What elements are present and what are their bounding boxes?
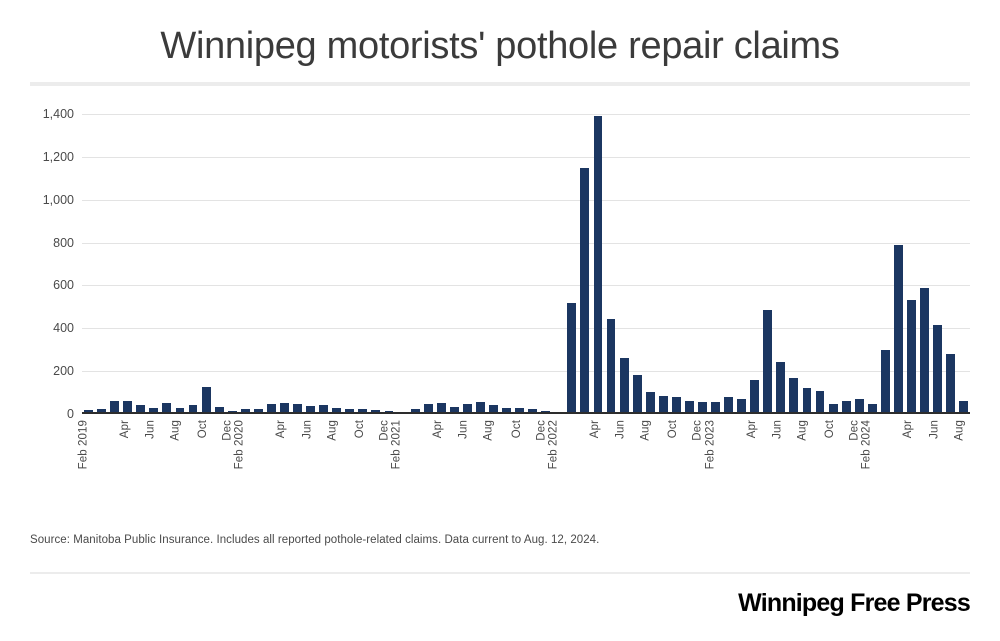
bar-slot[interactable]: [108, 114, 121, 414]
x-axis-slot: Jun: [931, 416, 944, 486]
y-axis-tick-label: 1,000: [43, 193, 74, 207]
bar[interactable]: [894, 245, 903, 414]
x-axis-slot: Jun: [304, 416, 317, 486]
x-axis-slot: Jun: [774, 416, 787, 486]
bar-slot[interactable]: [330, 114, 343, 414]
bar-slot[interactable]: [435, 114, 448, 414]
bar[interactable]: [907, 300, 916, 414]
bar-slot[interactable]: [213, 114, 226, 414]
x-axis-slot: Feb 2020: [252, 416, 265, 486]
bar-slot[interactable]: [252, 114, 265, 414]
y-axis-tick-label: 800: [53, 236, 74, 250]
x-axis-tick-label: Feb 2023: [704, 420, 716, 469]
bar[interactable]: [776, 362, 785, 415]
bar-slot[interactable]: [565, 114, 578, 414]
bar[interactable]: [567, 303, 576, 414]
x-axis-slot: Aug: [173, 416, 186, 486]
bar[interactable]: [646, 392, 655, 415]
bar-slot[interactable]: [957, 114, 970, 414]
x-axis-slot: Jun: [461, 416, 474, 486]
bar-slot[interactable]: [866, 114, 879, 414]
x-axis-slot: Feb 2023: [722, 416, 735, 486]
x-axis-slot: Oct: [356, 416, 369, 486]
y-axis-tick-label: 1,200: [43, 150, 74, 164]
bar[interactable]: [750, 380, 759, 414]
bar[interactable]: [633, 375, 642, 414]
bar-slot[interactable]: [513, 114, 526, 414]
bar-slot[interactable]: [774, 114, 787, 414]
x-axis-tick-label: Apr: [432, 420, 444, 438]
bar[interactable]: [763, 310, 772, 414]
gridlines-container: [82, 114, 970, 414]
x-axis-slot: Aug: [487, 416, 500, 486]
infographic-page: Winnipeg motorists' pothole repair claim…: [0, 0, 1000, 641]
bar-slot[interactable]: [173, 114, 186, 414]
bar-slot[interactable]: [291, 114, 304, 414]
x-axis-tick-label: Oct: [197, 420, 209, 438]
bar-slot[interactable]: [147, 114, 160, 414]
x-axis-slot: Aug: [330, 416, 343, 486]
bar-slot[interactable]: [814, 114, 827, 414]
x-axis-tick-label: Feb 2020: [234, 420, 246, 469]
bar-slot[interactable]: [487, 114, 500, 414]
source-note: Source: Manitoba Public Insurance. Inclu…: [30, 534, 599, 546]
bar-slot[interactable]: [892, 114, 905, 414]
title-divider: [30, 82, 970, 86]
x-axis-tick-label: Jun: [771, 420, 783, 439]
bar-slot[interactable]: [382, 114, 395, 414]
bar-slot[interactable]: [800, 114, 813, 414]
bar[interactable]: [946, 354, 955, 414]
bar-slot[interactable]: [761, 114, 774, 414]
bar-slot[interactable]: [82, 114, 95, 414]
bar-slot[interactable]: [539, 114, 552, 414]
bar-slot[interactable]: [722, 114, 735, 414]
bar-slot[interactable]: [840, 114, 853, 414]
bar-slot[interactable]: [879, 114, 892, 414]
bar-slot[interactable]: [95, 114, 108, 414]
bar[interactable]: [580, 168, 589, 414]
chart-plot-area: 02004006008001,0001,2001,400 Feb 2019Apr…: [30, 114, 970, 434]
y-axis-tick-label: 400: [53, 321, 74, 335]
x-axis-slot: Aug: [800, 416, 813, 486]
bar-slot[interactable]: [709, 114, 722, 414]
bar[interactable]: [620, 358, 629, 414]
y-axis-tick-label: 1,400: [43, 107, 74, 121]
x-axis-slot: Jun: [618, 416, 631, 486]
bar-slot[interactable]: [226, 114, 239, 414]
bar[interactable]: [933, 325, 942, 414]
bar[interactable]: [881, 350, 890, 414]
bar-slot[interactable]: [696, 114, 709, 414]
x-axis-tick-label: Aug: [953, 420, 965, 441]
bar-slot[interactable]: [500, 114, 513, 414]
x-axis-tick-label: Apr: [902, 420, 914, 438]
bar-slot[interactable]: [461, 114, 474, 414]
title-block: Winnipeg motorists' pothole repair claim…: [30, 0, 970, 86]
bar-slot[interactable]: [396, 114, 409, 414]
x-axis-tick-label: Aug: [483, 420, 495, 441]
x-axis-slot: Apr: [748, 416, 761, 486]
x-axis-slot: Feb 2021: [409, 416, 422, 486]
x-axis-tick-label: Aug: [797, 420, 809, 441]
x-axis-slot: Apr: [591, 416, 604, 486]
x-axis-tick-label: Jun: [301, 420, 313, 439]
bar-slot[interactable]: [944, 114, 957, 414]
publisher-logo: Winnipeg Free Press: [738, 589, 970, 618]
x-axis-line: [82, 412, 970, 414]
bar[interactable]: [202, 387, 211, 414]
x-axis-tick-label: Feb 2019: [77, 420, 89, 469]
bar-slot[interactable]: [304, 114, 317, 414]
bar-slot[interactable]: [121, 114, 134, 414]
x-axis-slot: Feb 2019: [95, 416, 108, 486]
bar-slot[interactable]: [369, 114, 382, 414]
bar-slot[interactable]: [409, 114, 422, 414]
bar-slot[interactable]: [265, 114, 278, 414]
bar[interactable]: [816, 391, 825, 414]
x-axis-slot: Oct: [513, 416, 526, 486]
x-axis-slot: Apr: [435, 416, 448, 486]
bar[interactable]: [607, 319, 616, 414]
bar-slot[interactable]: [618, 114, 631, 414]
x-axis-slot: Oct: [670, 416, 683, 486]
bar[interactable]: [594, 116, 603, 414]
x-axis-tick-label: Apr: [589, 420, 601, 438]
x-axis-slot: Apr: [905, 416, 918, 486]
x-axis-tick-label: Feb 2022: [547, 420, 559, 469]
x-axis-tick-label: Oct: [667, 420, 679, 438]
footer-divider: [30, 572, 970, 574]
x-axis-tick-label: Oct: [510, 420, 522, 438]
x-axis-tick-label: Feb 2024: [861, 420, 873, 469]
bar-slot[interactable]: [278, 114, 291, 414]
y-axis-tick-label: 600: [53, 278, 74, 292]
x-axis-tick-label: Feb 2021: [390, 420, 402, 469]
x-axis-tick-label: Aug: [326, 420, 338, 441]
bar-slot[interactable]: [853, 114, 866, 414]
bar-slot[interactable]: [200, 114, 213, 414]
x-axis-tick-label: Apr: [119, 420, 131, 438]
bar-slot[interactable]: [591, 114, 604, 414]
y-axis-tick-label: 200: [53, 364, 74, 378]
bar-slot[interactable]: [317, 114, 330, 414]
x-axis-tick-label: Apr: [275, 420, 287, 438]
bar-slot[interactable]: [735, 114, 748, 414]
bar-slot[interactable]: [905, 114, 918, 414]
bar-slot[interactable]: [239, 114, 252, 414]
x-axis-tick-label: Dec: [222, 420, 234, 441]
bar-slot[interactable]: [343, 114, 356, 414]
bar-slot[interactable]: [356, 114, 369, 414]
bar-slot[interactable]: [657, 114, 670, 414]
x-axis-slot: Aug: [957, 416, 970, 486]
bar-slot[interactable]: [605, 114, 618, 414]
bar-slot[interactable]: [748, 114, 761, 414]
x-axis-tick-label: Jun: [615, 420, 627, 439]
x-axis-tick-label: Jun: [928, 420, 940, 439]
x-axis-slot: Aug: [644, 416, 657, 486]
x-axis-tick-label: Dec: [849, 420, 861, 441]
x-axis-slot: Oct: [827, 416, 840, 486]
bar[interactable]: [789, 378, 798, 414]
x-axis-slot: Apr: [121, 416, 134, 486]
bar-slot[interactable]: [670, 114, 683, 414]
x-axis-tick-label: Aug: [170, 420, 182, 441]
bar[interactable]: [920, 288, 929, 414]
bar-slot[interactable]: [931, 114, 944, 414]
x-axis-tick-label: Dec: [379, 420, 391, 441]
bar-slot[interactable]: [787, 114, 800, 414]
bar-slot[interactable]: [474, 114, 487, 414]
bar-slot[interactable]: [918, 114, 931, 414]
bar-slot[interactable]: [448, 114, 461, 414]
page-title: Winnipeg motorists' pothole repair claim…: [30, 22, 970, 70]
y-axis: 02004006008001,0001,2001,400: [30, 114, 82, 414]
bar-slot[interactable]: [526, 114, 539, 414]
x-axis-tick-label: Aug: [640, 420, 652, 441]
bar-series: [82, 114, 970, 414]
x-axis-tick-label: Oct: [354, 420, 366, 438]
bar-slot[interactable]: [683, 114, 696, 414]
bar-slot[interactable]: [134, 114, 147, 414]
x-axis-tick-label: Jun: [458, 420, 470, 439]
bar-slot[interactable]: [160, 114, 173, 414]
bar-slot[interactable]: [578, 114, 591, 414]
x-axis-slot: Apr: [278, 416, 291, 486]
x-axis-tick-label: Jun: [144, 420, 156, 439]
x-axis-tick-label: Dec: [535, 420, 547, 441]
bar-slot[interactable]: [422, 114, 435, 414]
x-axis-slot: Feb 2022: [565, 416, 578, 486]
bar-slot[interactable]: [644, 114, 657, 414]
x-axis-tick-label: Dec: [692, 420, 704, 441]
x-axis-slot: Jun: [147, 416, 160, 486]
bar-slot[interactable]: [187, 114, 200, 414]
x-axis-slot: Feb 2024: [879, 416, 892, 486]
y-axis-tick-label: 0: [67, 407, 74, 421]
x-axis-tick-label: Oct: [824, 420, 836, 438]
x-axis: Feb 2019AprJunAugOctDecFeb 2020AprJunAug…: [82, 416, 970, 486]
bar-slot[interactable]: [827, 114, 840, 414]
bar[interactable]: [803, 388, 812, 414]
x-axis-slot: Oct: [200, 416, 213, 486]
bar-slot[interactable]: [552, 114, 565, 414]
x-axis-tick-label: Apr: [746, 420, 758, 438]
bar-slot[interactable]: [631, 114, 644, 414]
